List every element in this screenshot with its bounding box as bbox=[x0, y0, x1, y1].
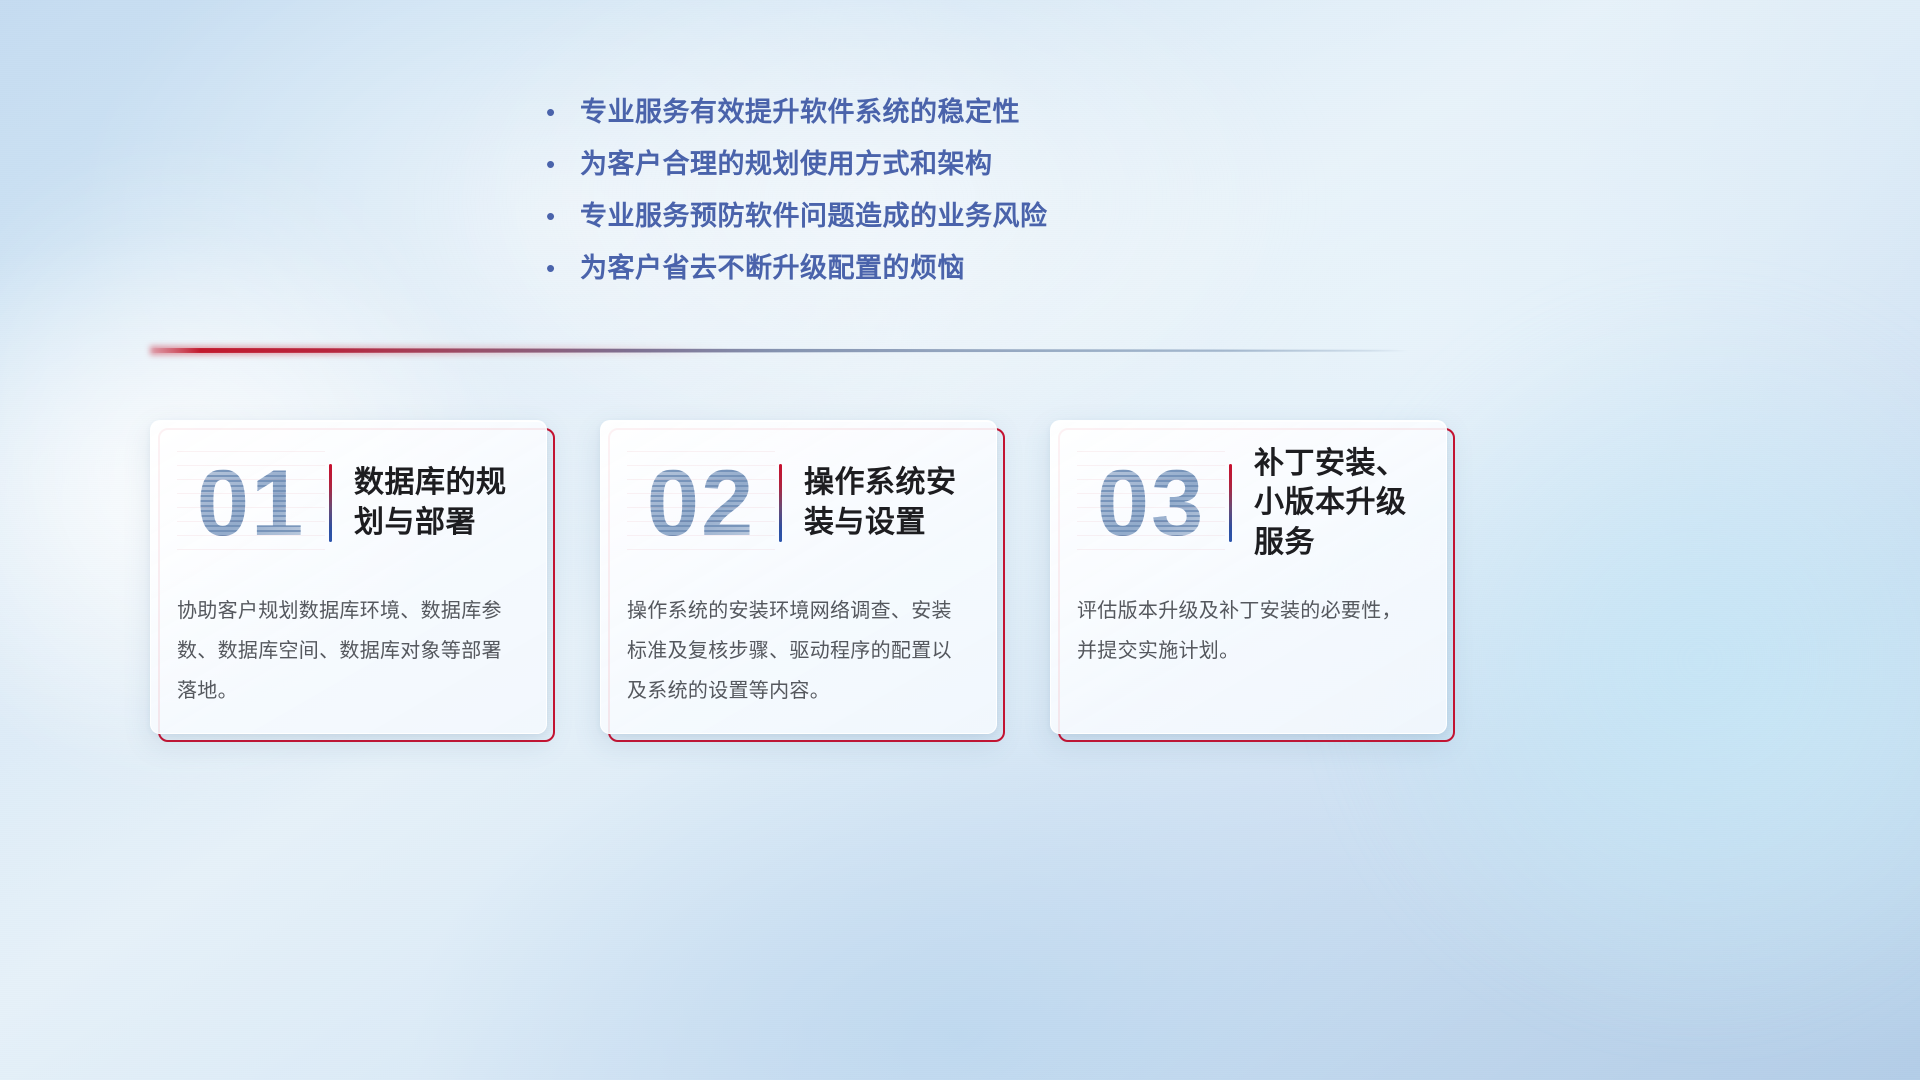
bullet-item: • 为客户合理的规划使用方式和架构 bbox=[540, 138, 1160, 190]
bullet-item-label: 为客户合理的规划使用方式和架构 bbox=[580, 138, 993, 190]
bullet-dot-icon: • bbox=[540, 242, 580, 294]
card-body-text: 协助客户规划数据库环境、数据库参数、数据库空间、数据库对象等部署落地。 bbox=[177, 591, 520, 711]
bullet-item: • 专业服务有效提升软件系统的稳定性 bbox=[540, 86, 1160, 138]
card-number-watermark: 03 bbox=[1077, 450, 1225, 556]
card-accent-bar bbox=[779, 464, 782, 542]
card-surface: 02 操作系统安装与设置 操作系统的安装环境网络调查、安装标准及复核步骤、驱动程… bbox=[600, 420, 997, 734]
card-header: 03 补丁安装、小版本升级服务 bbox=[1077, 445, 1420, 561]
service-card-03[interactable]: 03 补丁安装、小版本升级服务 评估版本升级及补丁安装的必要性，并提交实施计划。 bbox=[1050, 420, 1455, 742]
card-body-text: 操作系统的安装环境网络调查、安装标准及复核步骤、驱动程序的配置以及系统的设置等内… bbox=[627, 591, 970, 711]
card-header: 02 操作系统安装与设置 bbox=[627, 445, 970, 561]
service-card-row: 01 数据库的规划与部署 协助客户规划数据库环境、数据库参数、数据库空间、数据库… bbox=[150, 420, 1455, 750]
card-number-watermark: 01 bbox=[177, 450, 325, 556]
bullet-item: • 为客户省去不断升级配置的烦恼 bbox=[540, 242, 1160, 294]
card-surface: 03 补丁安装、小版本升级服务 评估版本升级及补丁安装的必要性，并提交实施计划。 bbox=[1050, 420, 1447, 734]
card-title: 操作系统安装与设置 bbox=[804, 463, 970, 542]
bullet-dot-icon: • bbox=[540, 86, 580, 138]
service-card-01[interactable]: 01 数据库的规划与部署 协助客户规划数据库环境、数据库参数、数据库空间、数据库… bbox=[150, 420, 555, 742]
card-title: 数据库的规划与部署 bbox=[354, 463, 520, 542]
card-title: 补丁安装、小版本升级服务 bbox=[1254, 444, 1420, 563]
bullet-dot-icon: • bbox=[540, 190, 580, 242]
card-surface: 01 数据库的规划与部署 协助客户规划数据库环境、数据库参数、数据库空间、数据库… bbox=[150, 420, 547, 734]
bullet-item-label: 为客户省去不断升级配置的烦恼 bbox=[580, 242, 965, 294]
bullet-item-label: 专业服务有效提升软件系统的稳定性 bbox=[580, 86, 1020, 138]
bullet-dot-icon: • bbox=[540, 138, 580, 190]
bullet-list: • 专业服务有效提升软件系统的稳定性 • 为客户合理的规划使用方式和架构 • 专… bbox=[540, 86, 1160, 294]
card-body-text: 评估版本升级及补丁安装的必要性，并提交实施计划。 bbox=[1077, 591, 1420, 671]
bullet-item: • 专业服务预防软件问题造成的业务风险 bbox=[540, 190, 1160, 242]
divider-line bbox=[150, 348, 1408, 353]
bullet-item-label: 专业服务预防软件问题造成的业务风险 bbox=[580, 190, 1048, 242]
card-number-watermark: 02 bbox=[627, 450, 775, 556]
card-accent-bar bbox=[329, 464, 332, 542]
card-header: 01 数据库的规划与部署 bbox=[177, 445, 520, 561]
slide-canvas: • 专业服务有效提升软件系统的稳定性 • 为客户合理的规划使用方式和架构 • 专… bbox=[0, 0, 1920, 1080]
service-card-02[interactable]: 02 操作系统安装与设置 操作系统的安装环境网络调查、安装标准及复核步骤、驱动程… bbox=[600, 420, 1005, 742]
section-divider bbox=[150, 344, 1408, 360]
card-accent-bar bbox=[1229, 464, 1232, 542]
